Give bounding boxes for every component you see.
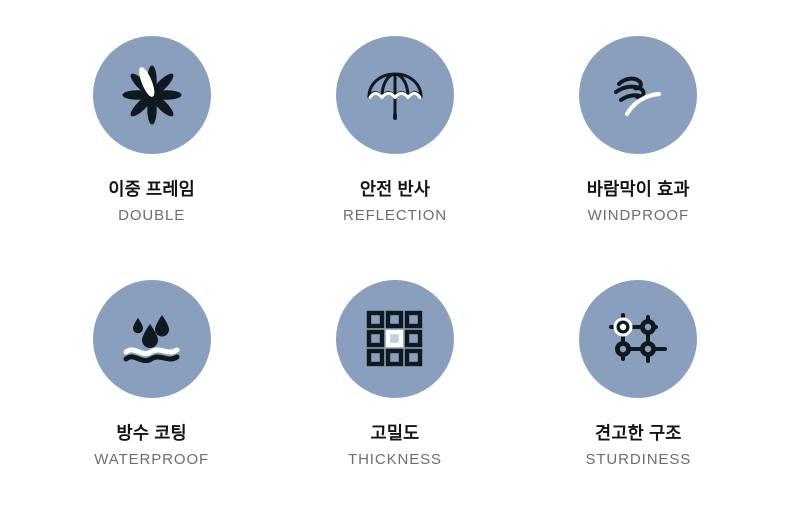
feature-label-en: DOUBLE xyxy=(108,208,195,223)
feature-item-waterproof[interactable]: 방수 코팅 WATERPROOF xyxy=(30,262,273,506)
feature-label-en: WINDPROOF xyxy=(587,208,690,223)
feature-label-windproof: 바람막이 효과 WINDPROOF xyxy=(587,181,690,223)
icon-circle-double xyxy=(93,36,211,154)
feature-item-reflection[interactable]: 안전 반사 REFLECTION xyxy=(273,18,516,262)
feature-item-double[interactable]: 이중 프레임 DOUBLE xyxy=(30,18,273,262)
feature-grid: 이중 프레임 DOUBLE xyxy=(0,0,790,532)
feature-label-double: 이중 프레임 DOUBLE xyxy=(108,181,195,223)
feature-label-en: THICKNESS xyxy=(348,452,442,467)
lattice-nodes-icon xyxy=(608,311,668,367)
feature-label-ko: 이중 프레임 xyxy=(108,181,195,199)
feature-item-windproof[interactable]: 바람막이 효과 WINDPROOF xyxy=(517,18,760,262)
feature-label-en: WATERPROOF xyxy=(94,452,209,467)
feature-label-ko: 안전 반사 xyxy=(343,181,447,199)
icon-circle-waterproof xyxy=(93,280,211,398)
wind-lines-icon xyxy=(607,64,669,126)
umbrella-icon xyxy=(363,63,427,127)
feature-label-ko: 고밀도 xyxy=(348,425,442,443)
feature-label-reflection: 안전 반사 REFLECTION xyxy=(343,181,447,223)
icon-circle-thickness xyxy=(336,280,454,398)
feature-item-thickness[interactable]: 고밀도 THICKNESS xyxy=(273,262,516,506)
water-droplets-wave-icon xyxy=(121,310,183,368)
feature-label-sturdiness: 견고한 구조 STURDINESS xyxy=(585,425,691,467)
feature-item-sturdiness[interactable]: 견고한 구조 STURDINESS xyxy=(517,262,760,506)
icon-circle-sturdiness xyxy=(579,280,697,398)
feature-label-en: STURDINESS xyxy=(585,452,691,467)
double-frame-starburst-icon xyxy=(121,64,183,126)
feature-label-ko: 견고한 구조 xyxy=(585,425,691,443)
grid-squares-icon xyxy=(366,310,424,368)
feature-label-thickness: 고밀도 THICKNESS xyxy=(348,425,442,467)
feature-label-en: REFLECTION xyxy=(343,208,447,223)
icon-circle-reflection xyxy=(336,36,454,154)
feature-label-waterproof: 방수 코팅 WATERPROOF xyxy=(94,425,209,467)
feature-label-ko: 방수 코팅 xyxy=(94,425,209,443)
icon-circle-windproof xyxy=(579,36,697,154)
feature-label-ko: 바람막이 효과 xyxy=(587,181,690,199)
